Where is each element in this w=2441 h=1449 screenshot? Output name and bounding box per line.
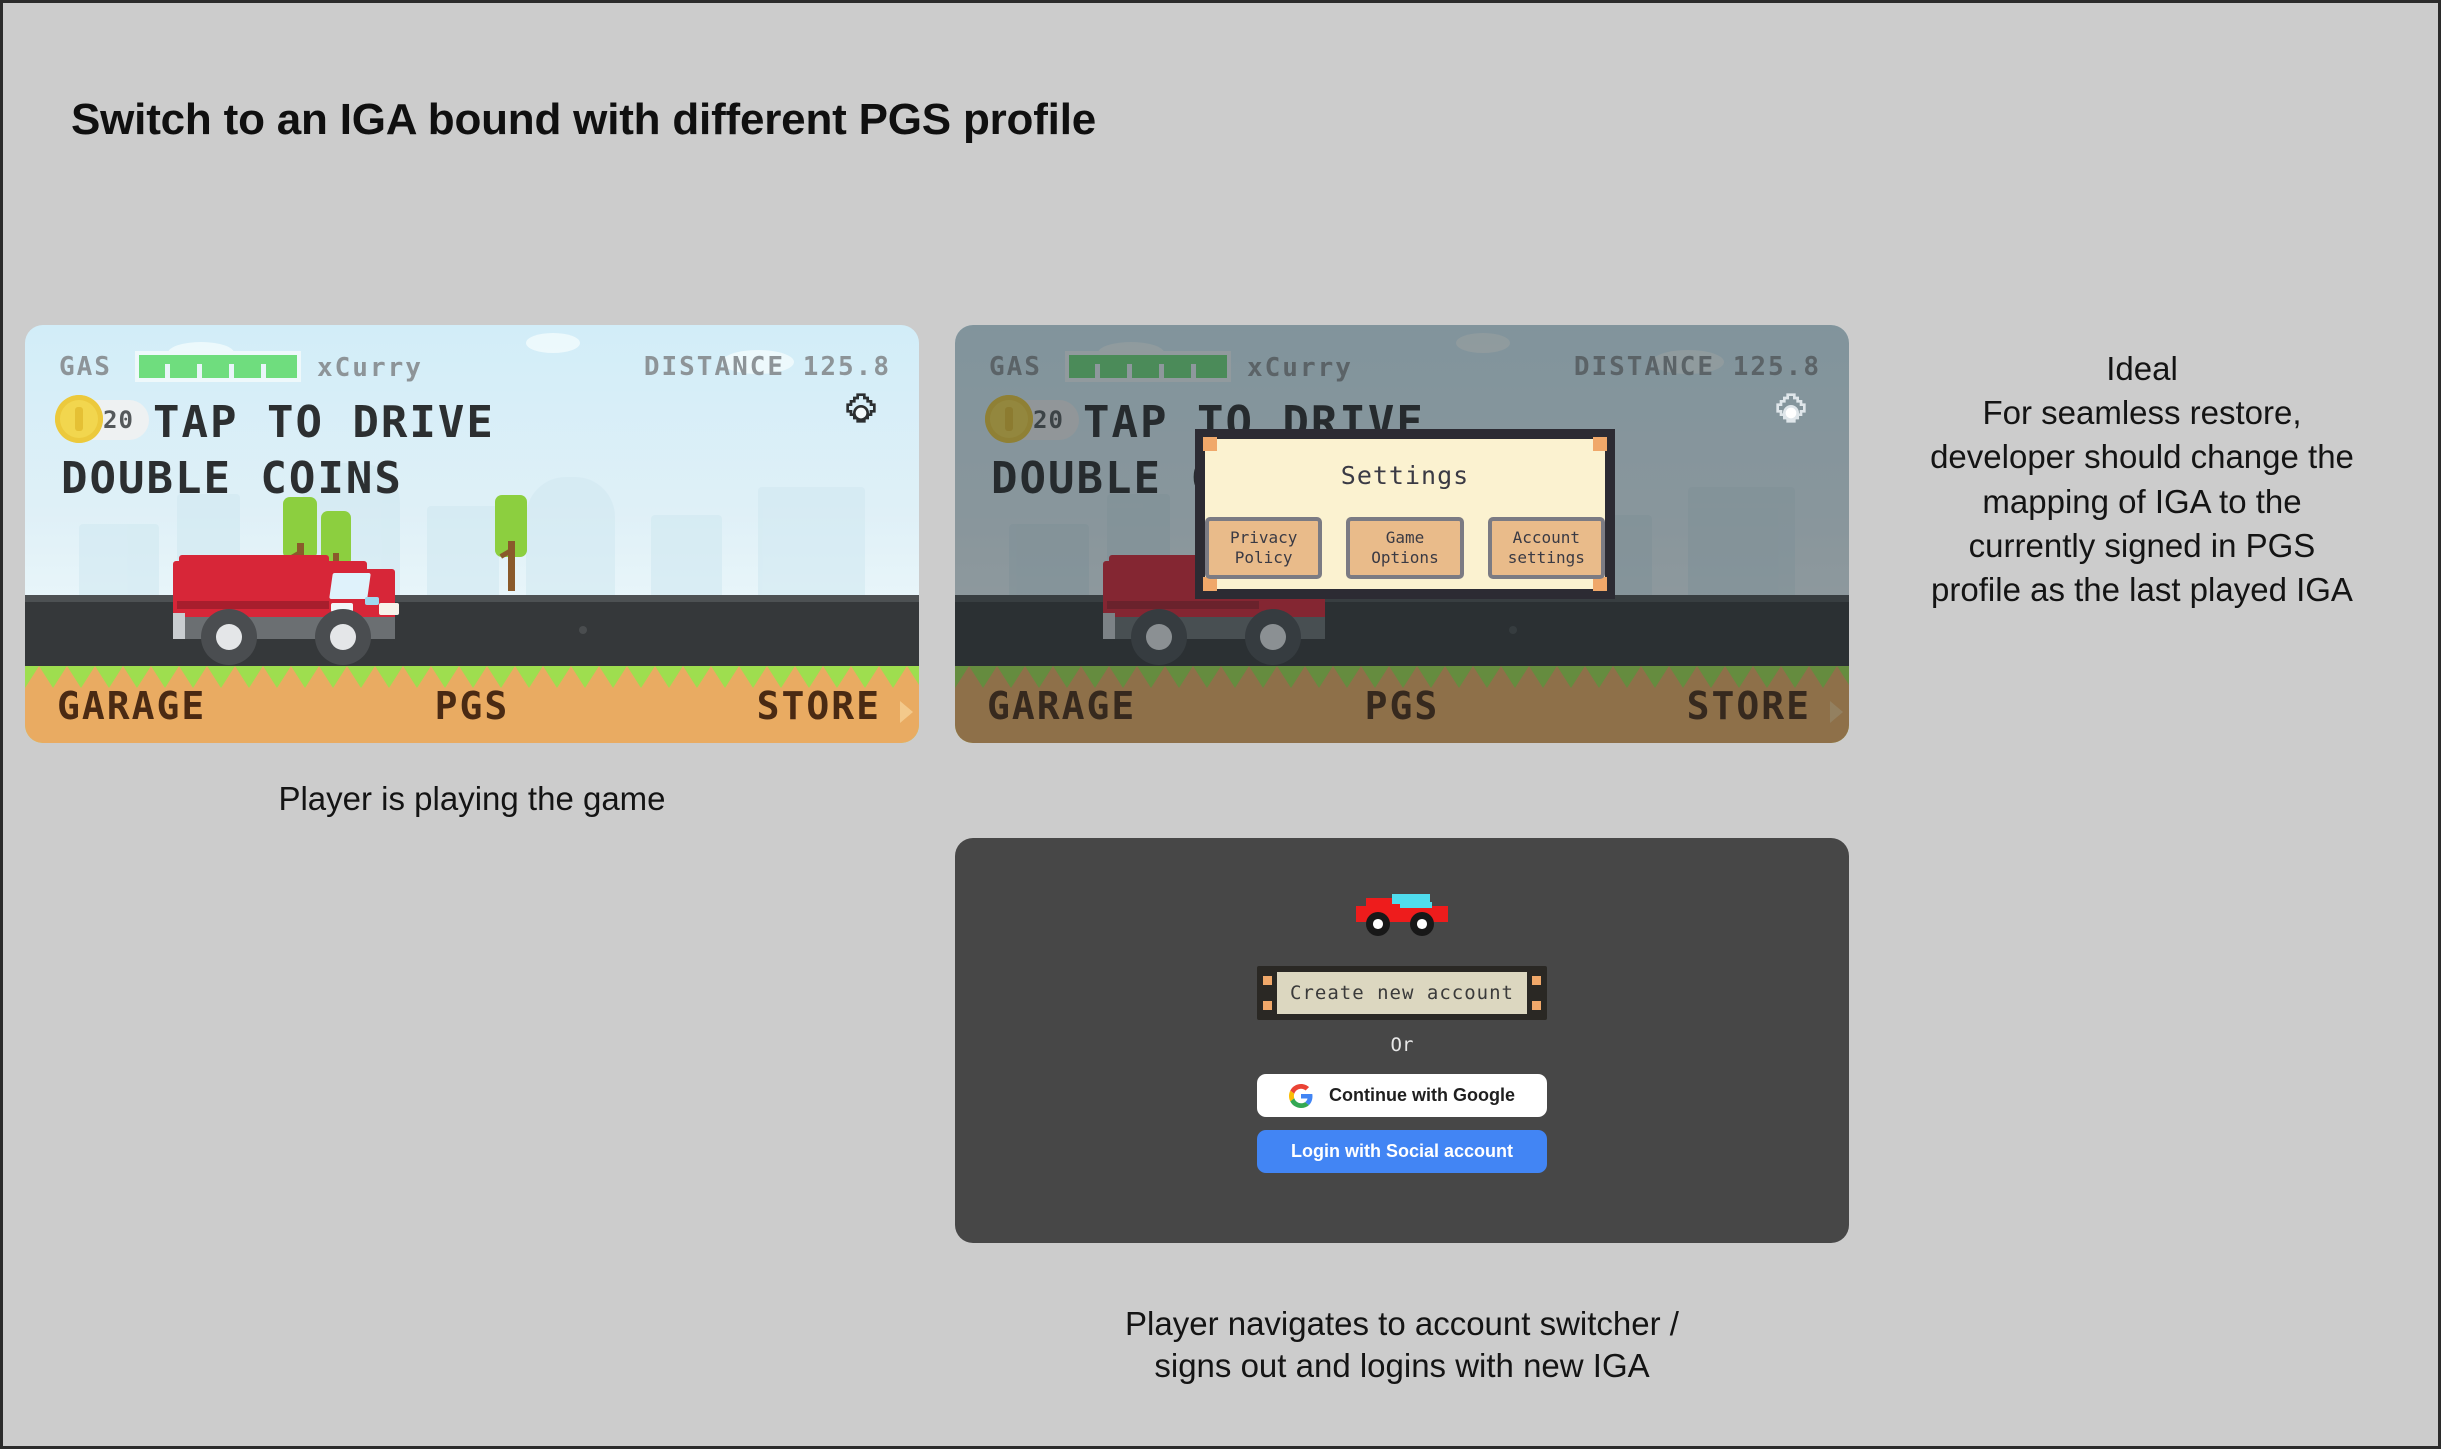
dialog-corner-accent	[1593, 437, 1607, 451]
settings-dialog: Settings Privacy Policy Game Options	[1195, 429, 1615, 599]
game-hud: GAS xCurry DISTANCE 125.8 20 TAP TO DRIV…	[25, 325, 919, 743]
dialog-corner-accent	[1593, 577, 1607, 591]
panel-three-caption-line-1: Player navigates to account switcher /	[955, 1303, 1849, 1345]
continue-with-google-button[interactable]: Continue with Google	[1257, 1074, 1547, 1117]
coin-count-value: 20	[1033, 406, 1064, 434]
side-note-line-4: currently signed in PGS	[1869, 524, 2415, 568]
gas-label: GAS	[989, 352, 1042, 382]
side-note-line-2: developer should change the	[1869, 435, 2415, 479]
side-note-line-3: mapping of IGA to the	[1869, 480, 2415, 524]
side-note-line-1: For seamless restore,	[1869, 391, 2415, 435]
coin-icon	[985, 395, 1033, 443]
distance-readout: DISTANCE 125.8	[644, 352, 891, 382]
car-wheel	[1366, 912, 1390, 936]
google-g-icon	[1289, 1084, 1313, 1108]
panel-three-caption: Player navigates to account switcher / s…	[955, 1303, 1849, 1387]
create-new-account-button[interactable]: Create new account	[1257, 966, 1547, 1020]
gas-meter	[1065, 351, 1231, 382]
slide-canvas: Switch to an IGA bound with different PG…	[0, 0, 2441, 1449]
game-bottom-nav: GARAGE PGS STORE	[955, 681, 1849, 731]
account-settings-label-line2: settings	[1508, 548, 1585, 567]
coin-count-value: 20	[103, 406, 134, 434]
login-with-social-account-button[interactable]: Login with Social account	[1257, 1130, 1547, 1173]
game-bottom-nav: GARAGE PGS STORE	[25, 681, 919, 731]
nav-next-arrow-icon[interactable]	[1830, 701, 1843, 723]
nav-pgs[interactable]: PGS	[1365, 684, 1440, 728]
privacy-policy-label-line1: Privacy	[1230, 528, 1297, 547]
dialog-corner-accent	[1203, 437, 1217, 451]
button-corner-accent	[1532, 976, 1541, 985]
game-options-label-line2: Options	[1371, 548, 1438, 567]
gas-meter	[135, 351, 301, 382]
nav-store[interactable]: STORE	[757, 684, 881, 728]
button-corner-accent	[1263, 976, 1272, 985]
gear-icon[interactable]	[841, 393, 881, 433]
account-settings-label-line1: Account	[1513, 528, 1580, 547]
create-new-account-label: Create new account	[1277, 972, 1527, 1014]
car-wheel	[1410, 912, 1434, 936]
nav-garage[interactable]: GARAGE	[987, 684, 1136, 728]
privacy-policy-label-line2: Policy	[1235, 548, 1293, 567]
button-corner-accent	[1263, 1001, 1272, 1010]
page-title: Switch to an IGA bound with different PG…	[71, 95, 1096, 145]
nav-next-arrow-icon[interactable]	[900, 701, 913, 723]
game-options-button[interactable]: Game Options	[1346, 517, 1463, 579]
coin-multiplier-label: xCurry	[317, 353, 423, 383]
settings-buttons-row: Privacy Policy Game Options Account sett…	[1205, 517, 1605, 579]
gear-icon[interactable]	[1771, 393, 1811, 433]
settings-dialog-title: Settings	[1205, 461, 1605, 490]
coin-icon	[55, 395, 103, 443]
tap-to-drive-text: TAP TO DRIVE	[153, 397, 495, 448]
ideal-side-note: Ideal For seamless restore, developer sh…	[1869, 347, 2415, 612]
car-icon	[1352, 890, 1452, 934]
dialog-corner-accent	[1203, 577, 1217, 591]
account-settings-button[interactable]: Account settings	[1488, 517, 1605, 579]
nav-garage[interactable]: GARAGE	[57, 684, 206, 728]
double-coins-text: DOUBLE COINS	[61, 453, 403, 504]
distance-readout: DISTANCE 125.8	[1574, 352, 1821, 382]
privacy-policy-button[interactable]: Privacy Policy	[1205, 517, 1322, 579]
side-note-line-5: profile as the last played IGA	[1869, 568, 2415, 612]
settings-dialog-screenshot-panel: GAS xCurry DISTANCE 125.8 20 TAP TO DRIV…	[955, 325, 1849, 743]
panel-one-caption: Player is playing the game	[25, 778, 919, 820]
nav-store[interactable]: STORE	[1687, 684, 1811, 728]
panel-three-caption-line-2: signs out and logins with new IGA	[955, 1345, 1849, 1387]
login-with-social-account-label: Login with Social account	[1291, 1141, 1513, 1162]
coin-multiplier-label: xCurry	[1247, 353, 1353, 383]
button-corner-accent	[1532, 1001, 1541, 1010]
gas-label: GAS	[59, 352, 112, 382]
game-options-label-line1: Game	[1386, 528, 1425, 547]
gameplay-screenshot-panel: GAS xCurry DISTANCE 125.8 20 TAP TO DRIV…	[25, 325, 919, 743]
continue-with-google-label: Continue with Google	[1329, 1085, 1515, 1106]
account-switcher-screenshot-panel: Create new account Or Continue with Goog…	[955, 838, 1849, 1243]
or-divider-label: Or	[955, 1034, 1849, 1056]
side-note-heading: Ideal	[1869, 347, 2415, 391]
nav-pgs[interactable]: PGS	[435, 684, 510, 728]
